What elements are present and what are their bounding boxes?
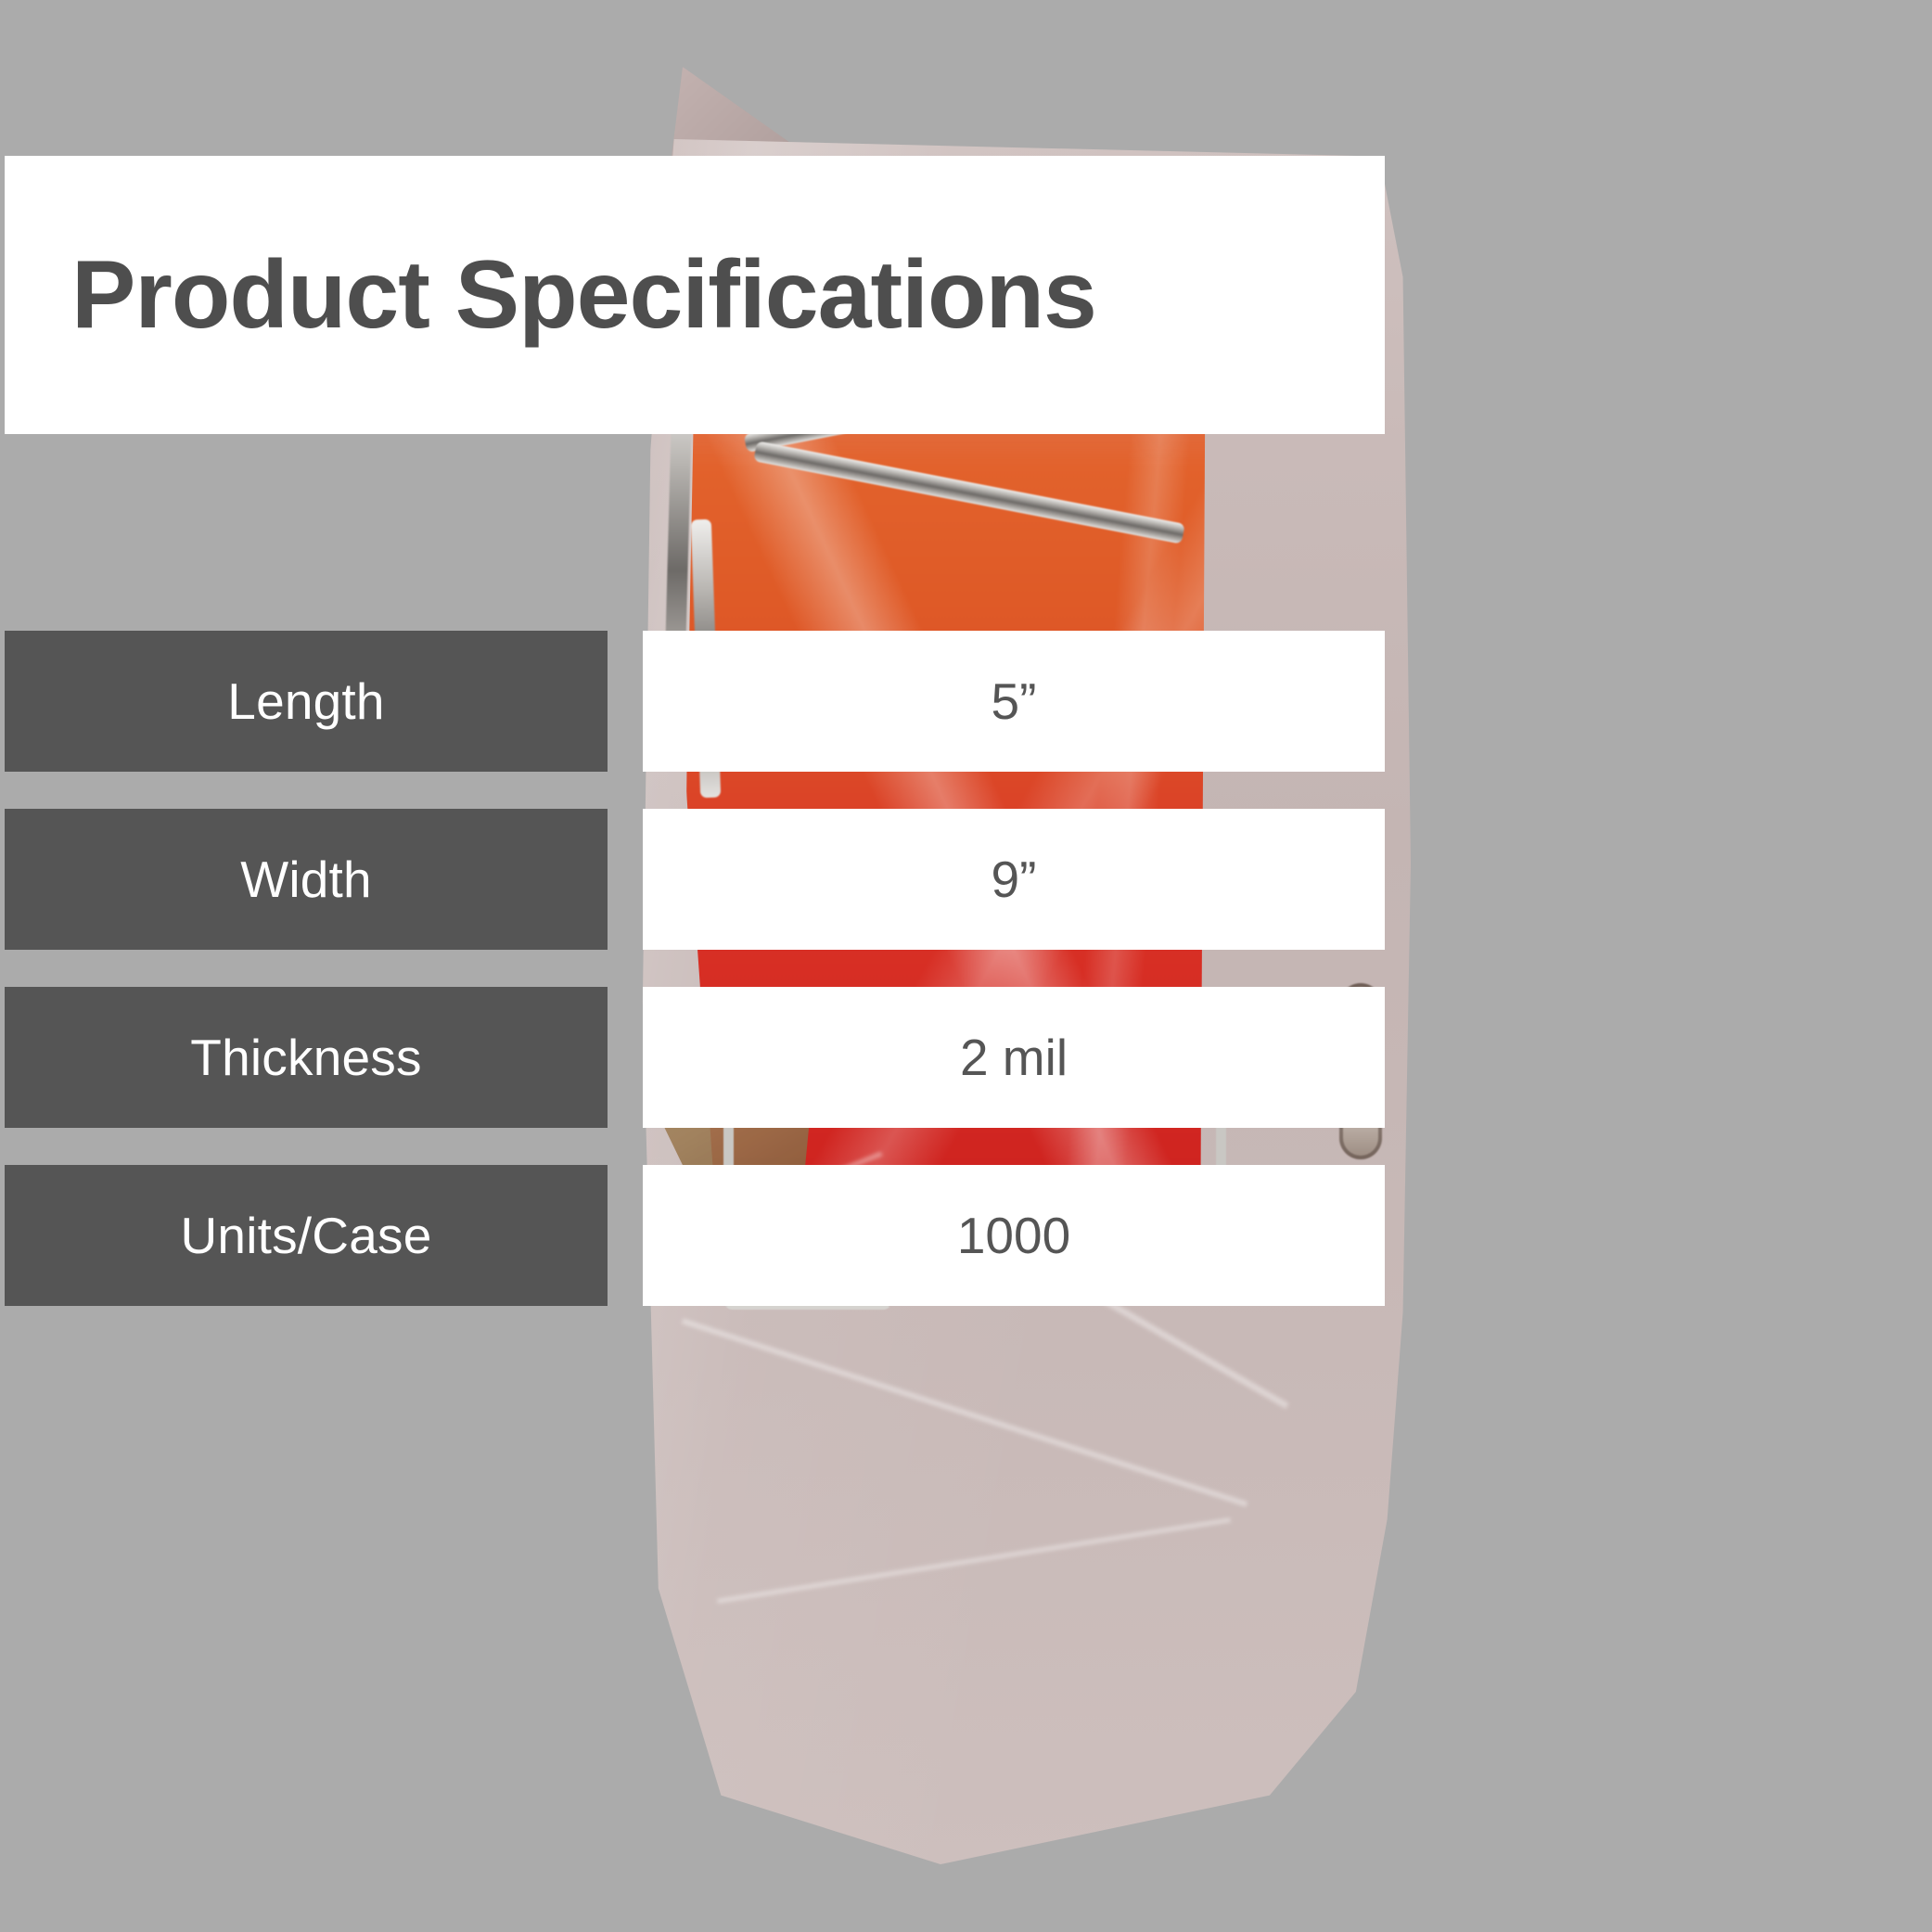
table-row: Units/Case 1000: [0, 1165, 1391, 1306]
spec-value-units-per-case: 1000: [643, 1165, 1385, 1306]
title-band: Product Specifications: [5, 156, 1385, 434]
table-row: Length 5”: [0, 631, 1391, 772]
spec-table: Length 5” Width 9” Thickness 2 mil Units…: [0, 631, 1391, 1343]
table-row: Width 9”: [0, 809, 1391, 950]
spec-label-width: Width: [5, 809, 608, 950]
spec-label-units-per-case: Units/Case: [5, 1165, 608, 1306]
spec-value-thickness: 2 mil: [643, 987, 1385, 1128]
spec-value-length: 5”: [643, 631, 1385, 772]
spec-label-length: Length: [5, 631, 608, 772]
spec-label-thickness: Thickness: [5, 987, 608, 1128]
specification-card: Product Specifications Length 5” Width 9…: [0, 0, 1932, 1932]
spec-value-width: 9”: [643, 809, 1385, 950]
page-title: Product Specifications: [71, 247, 1096, 343]
table-row: Thickness 2 mil: [0, 987, 1391, 1128]
